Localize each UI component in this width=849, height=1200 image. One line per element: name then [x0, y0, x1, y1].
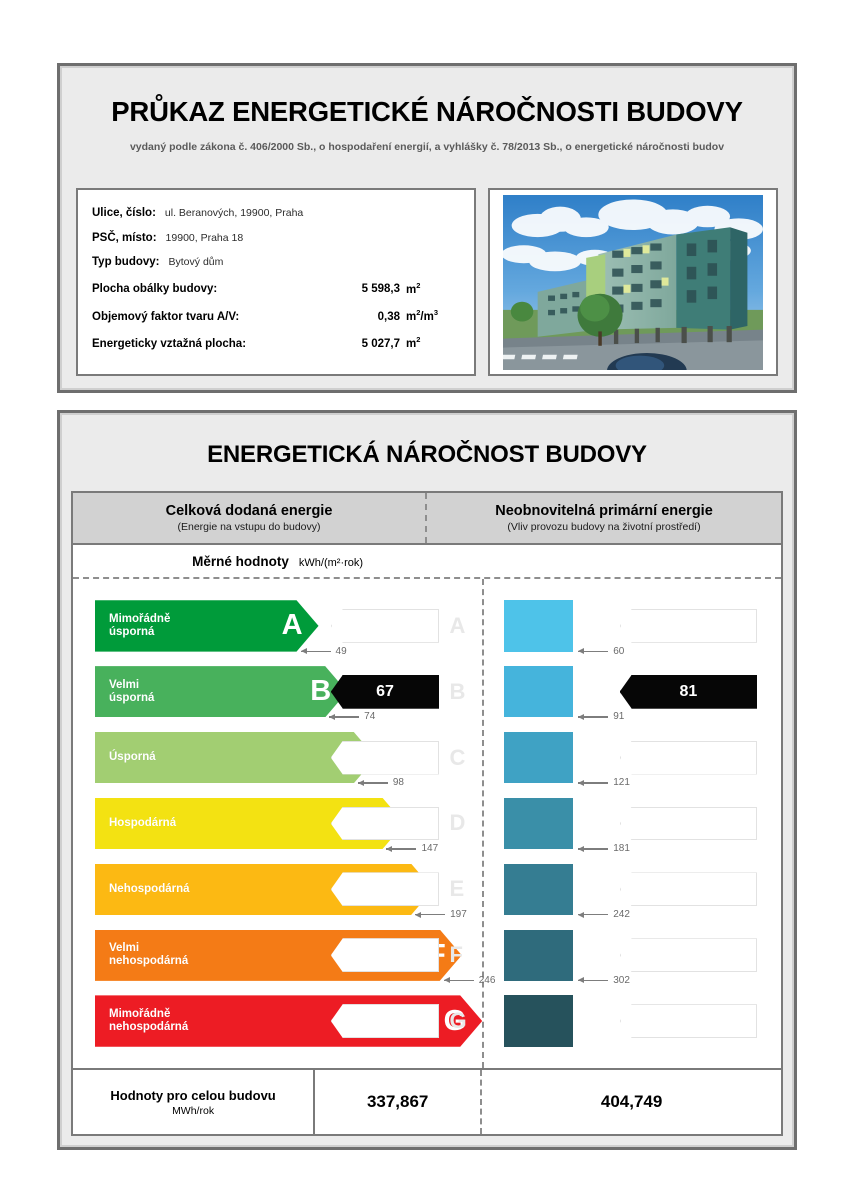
class-band-a: Mimořádně úspornáA: [95, 600, 319, 651]
class-band-b: Velmi úspornáB: [95, 666, 347, 717]
building-photo-frame: [488, 188, 778, 376]
threshold-value: 91: [613, 711, 624, 722]
primary-value-slot-d: [620, 808, 757, 840]
threshold-value: 60: [613, 646, 624, 657]
info-label: Plocha obálky budovy:: [92, 283, 217, 295]
info-value: 19900, Praha 18: [166, 232, 244, 244]
specific-values-row: Měrné hodnoty kWh/(m²·rok): [73, 545, 781, 579]
class-label: Hospodárná: [109, 817, 176, 830]
threshold-marker: 49: [301, 646, 347, 657]
threshold-value: 49: [336, 646, 347, 657]
delivered-value-slot-e: [331, 873, 439, 905]
totals-delivered-cell: 337,867: [315, 1070, 482, 1134]
class-letter: A: [282, 611, 303, 640]
slot-letter: B: [449, 679, 465, 705]
primary-block-a: [504, 600, 573, 651]
slot-letter: D: [449, 810, 465, 836]
primary-threshold-marker: 302: [578, 975, 630, 986]
primary-class-row: 242: [482, 856, 781, 922]
value-chevron: [620, 609, 757, 643]
delivered-value-slot-d: [331, 808, 439, 840]
delivered-energy-group: Mimořádně úspornáA49AVelmi úspornáB7467B…: [73, 579, 482, 1068]
primary-block-c: [504, 732, 573, 783]
threshold-value: 197: [450, 909, 467, 920]
arrow-left-icon: [329, 713, 359, 720]
threshold-marker: 147: [386, 843, 438, 854]
column-subtitle: (Vliv provozu budovy na životní prostřed…: [507, 521, 700, 533]
threshold-value: 181: [613, 843, 630, 854]
energy-class-row: Mimořádně nehospodárnáGG: [73, 988, 482, 1054]
delivered-value-slot-a: [331, 610, 439, 642]
primary-block-b: [504, 666, 573, 717]
threshold-marker: 98: [358, 777, 404, 788]
class-letter: B: [310, 677, 331, 706]
slot-letter: C: [449, 745, 465, 771]
info-label: Typ budovy:: [92, 256, 160, 268]
class-label: Mimořádně úsporná: [109, 613, 170, 639]
column-title: Neobnovitelná primární energie: [495, 503, 713, 520]
primary-value-slot-f: [620, 939, 757, 971]
specific-values-unit: kWh/(m²·rok): [299, 557, 363, 569]
info-row-reference-area: Energeticky vztažná plocha: 5 027,7 m2: [92, 335, 460, 350]
value-chevron: [620, 938, 757, 972]
primary-value-slot-c: [620, 742, 757, 774]
rating-column-headers: Celková dodaná energie (Energie na vstup…: [73, 493, 781, 545]
info-value: Bytový dům: [169, 256, 224, 268]
info-row-envelope-area: Plocha obálky budovy: 5 598,3 m2: [92, 281, 460, 296]
energy-class-row: HospodárnáD147D: [73, 791, 482, 857]
class-label: Nehospodárná: [109, 883, 190, 896]
value-chevron: [331, 741, 439, 775]
info-row-shape-factor: Objemový faktor tvaru A/V: 0,38 m2/m3: [92, 308, 460, 323]
arrow-left-icon: [301, 648, 331, 655]
value-chevron: [331, 872, 439, 906]
energy-class-row: Velmi úspornáB7467B: [73, 659, 482, 725]
threshold-value: 98: [393, 777, 404, 788]
primary-threshold-marker: 181: [578, 843, 630, 854]
delivered-value-slot-f: [331, 939, 439, 971]
arrow-left-icon: [578, 713, 608, 720]
value-chevron: 81: [620, 675, 757, 709]
totals-primary-cell: 404,749: [482, 1070, 781, 1134]
arrow-left-icon: [444, 977, 474, 984]
primary-block-d: [504, 798, 573, 849]
energy-class-row: Velmi nehospodárnáF246F: [73, 922, 482, 988]
info-value: 0,38: [239, 311, 406, 323]
primary-class-row: 9181: [482, 659, 781, 725]
arrow-left-icon: [578, 845, 608, 852]
totals-primary-value: 404,749: [601, 1092, 662, 1112]
header-panel: PRŮKAZ ENERGETICKÉ NÁROČNOSTI BUDOVY vyd…: [57, 63, 797, 393]
class-label: Úsporná: [109, 751, 156, 764]
building-info-area: Ulice, číslo: ul. Beranových, 19900, Pra…: [76, 188, 778, 376]
arrow-left-icon: [578, 977, 608, 984]
class-label: Velmi úsporná: [109, 679, 154, 705]
page-subtitle: vydaný podle zákona č. 406/2000 Sb., o h…: [60, 141, 794, 153]
arrow-left-icon: [578, 648, 608, 655]
info-value: ul. Beranových, 19900, Praha: [165, 207, 303, 219]
value-chevron: [331, 609, 439, 643]
info-row-street: Ulice, číslo: ul. Beranových, 19900, Pra…: [92, 207, 460, 219]
page-title: PRŮKAZ ENERGETICKÉ NÁROČNOSTI BUDOVY: [60, 96, 794, 128]
primary-value-slot-a: [620, 610, 757, 642]
totals-delivered-value: 337,867: [367, 1092, 428, 1112]
primary-value-slot-b: 81: [620, 676, 757, 708]
specific-values-label: Měrné hodnoty: [192, 554, 289, 569]
primary-threshold-marker: 242: [578, 909, 630, 920]
primary-energy-value: 81: [621, 683, 756, 701]
delivered-value-slot-b: 67: [331, 676, 439, 708]
column-subtitle: (Energie na vstupu do budovy): [177, 521, 320, 533]
primary-value-slot-e: [620, 873, 757, 905]
value-chevron: [331, 807, 439, 841]
info-label: PSČ, místo:: [92, 232, 157, 244]
energy-class-row: ÚspornáC98C: [73, 725, 482, 791]
rating-panel: ENERGETICKÁ NÁROČNOST BUDOVY Celková dod…: [57, 410, 797, 1150]
arrow-left-icon: [578, 911, 608, 918]
delivered-value-slot-c: [331, 742, 439, 774]
building-photo: [503, 195, 763, 370]
slot-letter: A: [449, 613, 465, 639]
delivered-value-slot-g: [331, 1005, 439, 1037]
column-title: Celková dodaná energie: [166, 503, 333, 520]
value-chevron: [620, 807, 757, 841]
threshold-marker: 74: [329, 711, 375, 722]
primary-threshold-marker: 121: [578, 777, 630, 788]
value-chevron: [620, 1004, 757, 1038]
primary-block-g: [504, 995, 573, 1046]
column-header-primary: Neobnovitelná primární energie (Vliv pro…: [427, 493, 781, 543]
column-header-delivered: Celková dodaná energie (Energie na vstup…: [73, 493, 427, 543]
primary-class-row: 60: [482, 593, 781, 659]
info-unit: m2: [406, 335, 460, 350]
primary-class-row: 121: [482, 725, 781, 791]
primary-class-row: 302: [482, 922, 781, 988]
primary-block-f: [504, 930, 573, 981]
class-label: Velmi nehospodárná: [109, 942, 188, 968]
primary-block-e: [504, 864, 573, 915]
threshold-value: 74: [364, 711, 375, 722]
penb-page: PRŮKAZ ENERGETICKÉ NÁROČNOSTI BUDOVY vyd…: [0, 0, 849, 1200]
info-unit: m2/m3: [406, 308, 460, 323]
threshold-value: 121: [613, 777, 630, 788]
arrow-left-icon: [386, 845, 416, 852]
info-row-type: Typ budovy: Bytový dům: [92, 256, 460, 268]
primary-threshold-marker: 60: [578, 646, 624, 657]
value-chevron: [331, 938, 439, 972]
threshold-value: 242: [613, 909, 630, 920]
threshold-marker: 197: [415, 909, 467, 920]
arrow-left-icon: [415, 911, 445, 918]
slot-letter: G: [449, 1008, 466, 1034]
rating-table: Celková dodaná energie (Energie na vstup…: [71, 491, 783, 1136]
rating-scale: Mimořádně úspornáA49AVelmi úspornáB7467B…: [73, 579, 781, 1068]
info-value: 5 598,3: [217, 283, 406, 295]
primary-energy-group: 609181121181242302: [482, 579, 781, 1068]
totals-label: Hodnoty pro celou budovu: [110, 1088, 275, 1103]
value-chevron: 67: [331, 675, 439, 709]
totals-label-cell: Hodnoty pro celou budovu MWh/rok: [73, 1070, 315, 1134]
value-chevron: [331, 1004, 439, 1038]
energy-class-row: NehospodárnáE197E: [73, 856, 482, 922]
info-unit: m2: [406, 281, 460, 296]
delivered-energy-value: 67: [332, 683, 438, 701]
primary-class-row: 181: [482, 791, 781, 857]
class-label: Mimořádně nehospodárná: [109, 1008, 188, 1034]
primary-value-slot-g: [620, 1005, 757, 1037]
building-render-icon: [503, 195, 763, 370]
rating-title: ENERGETICKÁ NÁROČNOST BUDOVY: [60, 441, 794, 469]
info-value: 5 027,7: [246, 338, 406, 350]
building-info-box: Ulice, číslo: ul. Beranových, 19900, Pra…: [76, 188, 476, 376]
totals-unit: MWh/rok: [172, 1105, 214, 1117]
info-row-zip: PSČ, místo: 19900, Praha 18: [92, 232, 460, 244]
info-label: Ulice, číslo:: [92, 207, 156, 219]
slot-letter: E: [449, 876, 464, 902]
value-chevron: [620, 872, 757, 906]
primary-threshold-marker: 91: [578, 711, 624, 722]
slot-letter: F: [449, 942, 462, 968]
arrow-left-icon: [578, 779, 608, 786]
value-chevron: [620, 741, 757, 775]
threshold-value: 302: [613, 975, 630, 986]
totals-row: Hodnoty pro celou budovu MWh/rok 337,867…: [73, 1068, 781, 1134]
arrow-left-icon: [358, 779, 388, 786]
info-label: Objemový faktor tvaru A/V:: [92, 311, 239, 323]
energy-class-row: Mimořádně úspornáA49A: [73, 593, 482, 659]
info-label: Energeticky vztažná plocha:: [92, 338, 246, 350]
threshold-value: 147: [421, 843, 438, 854]
primary-class-row: [482, 988, 781, 1054]
